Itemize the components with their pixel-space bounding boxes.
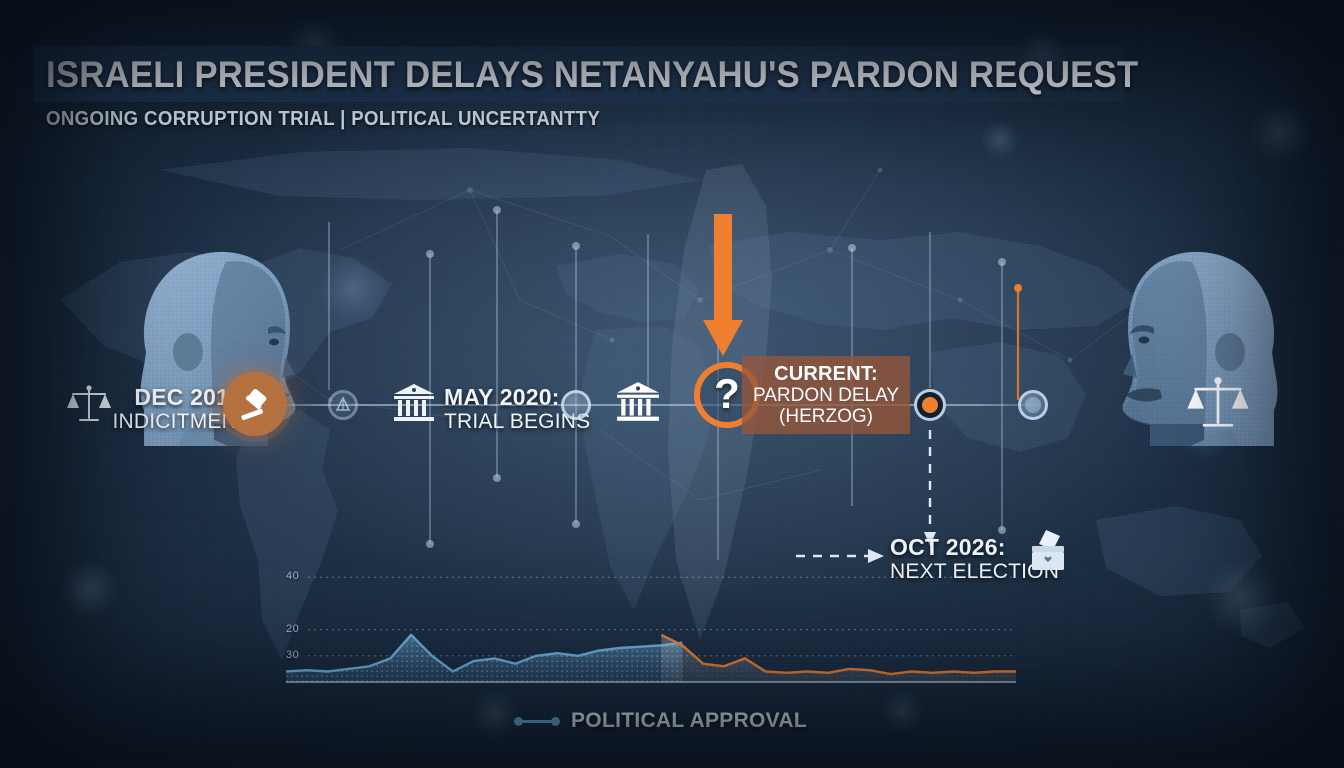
callout-line-1: CURRENT:	[774, 363, 878, 385]
bokeh-light	[1250, 100, 1314, 164]
scales-of-justice-icon	[1186, 372, 1250, 439]
bokeh-light	[1204, 560, 1280, 636]
bokeh-light	[318, 254, 388, 324]
portrait-right	[1090, 232, 1300, 452]
chart-y-tick: 30	[286, 649, 299, 661]
event-label-indictment: DEC 2019: INDICITMENT	[0, 384, 250, 434]
current-status-callout[interactable]: CURRENT: PARDON DELAY (HERZOG)	[742, 356, 910, 434]
event-name-indictment: INDICITMENT	[0, 410, 250, 434]
chart-legend: POLITICAL APPROVAL	[514, 709, 807, 733]
down-arrow-icon	[700, 214, 746, 367]
legend-label: POLITICAL APPROVAL	[571, 709, 807, 733]
chart-plot-area	[286, 530, 1016, 690]
callout-line-3: (HERZOG)	[779, 406, 873, 427]
timeline-node-current[interactable]	[914, 389, 946, 421]
bokeh-light	[1176, 400, 1236, 460]
timeline-node-waypoint[interactable]	[328, 390, 358, 420]
gavel-marker[interactable]	[223, 372, 287, 436]
timeline-node-trial[interactable]	[561, 390, 591, 420]
timeline-node-end[interactable]	[1018, 390, 1048, 420]
bokeh-light	[470, 690, 520, 740]
legend-marker	[514, 716, 560, 726]
bokeh-light	[980, 120, 1020, 160]
page-subtitle: ONGOING CORRUPTION TRIAL | POLITICAL UNC…	[46, 108, 600, 131]
bokeh-light	[60, 560, 118, 618]
chart-area-texture	[286, 635, 682, 682]
callout-line-2: PARDON DELAY	[753, 385, 899, 406]
approval-chart[interactable]: 402030	[286, 530, 1016, 690]
node-inner-dot	[922, 397, 938, 413]
chart-y-tick: 20	[286, 623, 299, 635]
question-mark-glyph: ?	[714, 373, 740, 415]
chart-y-tick: 40	[286, 570, 299, 582]
event-date-indictment: DEC 2019:	[0, 384, 250, 410]
page-title: ISRAELI PRESIDENT DELAYS NETANYAHU'S PAR…	[46, 48, 1071, 102]
chart-area-texture	[661, 635, 1016, 682]
bokeh-light	[880, 690, 924, 734]
infographic-canvas: ISRAELI PRESIDENT DELAYS NETANYAHU'S PAR…	[0, 0, 1344, 768]
